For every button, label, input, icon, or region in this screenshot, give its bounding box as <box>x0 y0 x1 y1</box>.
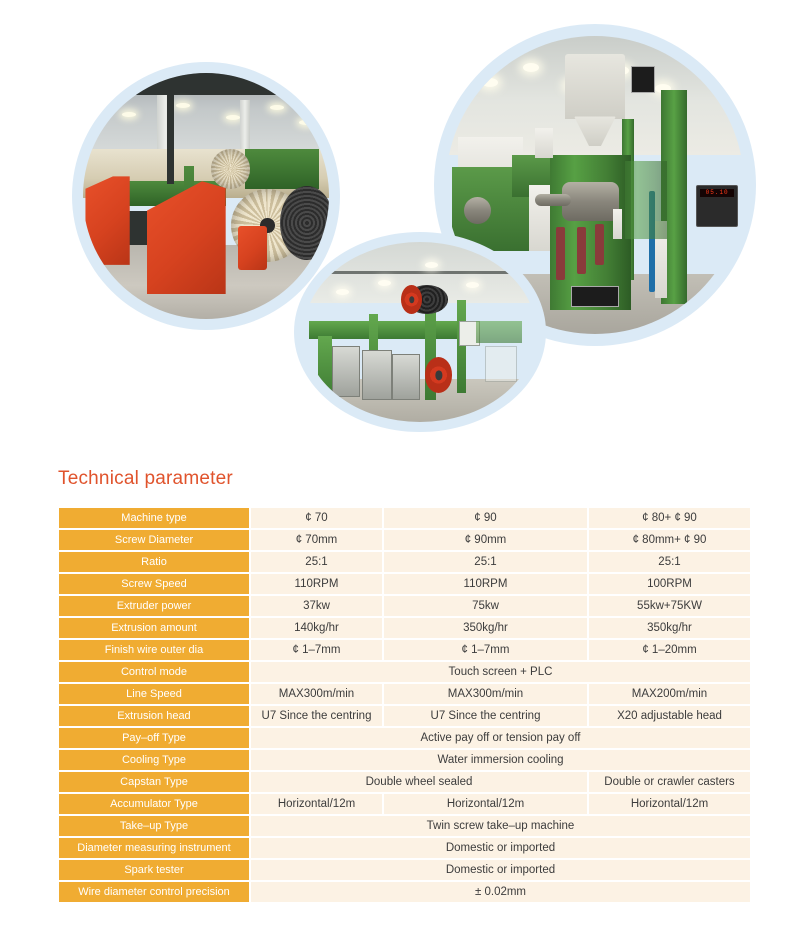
table-row: Finish wire outer dia¢ 1–7mm¢ 1–7mm¢ 1–2… <box>59 640 750 660</box>
row-value: ¢ 70 <box>251 508 382 528</box>
row-value: 350kg/hr <box>384 618 587 638</box>
table-row: Screw Diameter¢ 70mm¢ 90mm¢ 80mm+ ¢ 90 <box>59 530 750 550</box>
row-value: Horizontal/12m <box>589 794 750 814</box>
table-body: Machine type¢ 70¢ 90¢ 80+ ¢ 90Screw Diam… <box>59 508 750 902</box>
scene-factory-floor <box>83 73 329 319</box>
table-row: Spark testerDomestic or imported <box>59 860 750 880</box>
row-value: Horizontal/12m <box>384 794 587 814</box>
row-label: Extruder power <box>59 596 249 616</box>
row-value: ¢ 80mm+ ¢ 90 <box>589 530 750 550</box>
row-label: Control mode <box>59 662 249 682</box>
row-label: Take–up Type <box>59 816 249 836</box>
row-value: U7 Since the centring <box>384 706 587 726</box>
row-value: MAX300m/min <box>384 684 587 704</box>
table-row: Pay–off TypeActive pay off or tension pa… <box>59 728 750 748</box>
row-value: MAX200m/min <box>589 684 750 704</box>
table-row: Extrusion headU7 Since the centringU7 Si… <box>59 706 750 726</box>
table-row: Control modeTouch screen + PLC <box>59 662 750 682</box>
row-value: 25:1 <box>589 552 750 572</box>
row-value: Double or crawler casters <box>589 772 750 792</box>
table-row: Line SpeedMAX300m/minMAX300m/minMAX200m/… <box>59 684 750 704</box>
photo-collage: 05.10 <box>0 0 800 455</box>
row-value: ¢ 70mm <box>251 530 382 550</box>
row-label: Extrusion head <box>59 706 249 726</box>
row-value: U7 Since the centring <box>251 706 382 726</box>
row-value: 100RPM <box>589 574 750 594</box>
technical-parameter-table: Machine type¢ 70¢ 90¢ 80+ ¢ 90Screw Diam… <box>57 506 752 904</box>
row-value: ¢ 90 <box>384 508 587 528</box>
row-label: Machine type <box>59 508 249 528</box>
table-row: Machine type¢ 70¢ 90¢ 80+ ¢ 90 <box>59 508 750 528</box>
row-value: ¢ 1–7mm <box>251 640 382 660</box>
row-value: 350kg/hr <box>589 618 750 638</box>
row-value: ¢ 1–7mm <box>384 640 587 660</box>
row-label: Finish wire outer dia <box>59 640 249 660</box>
table-row: Cooling TypeWater immersion cooling <box>59 750 750 770</box>
row-value: 110RPM <box>251 574 382 594</box>
table-row: Extruder power37kw75kw55kw+75KW <box>59 596 750 616</box>
row-value: ± 0.02mm <box>251 882 750 902</box>
row-label: Screw Speed <box>59 574 249 594</box>
row-value: X20 adjustable head <box>589 706 750 726</box>
page-title: Technical parameter <box>58 468 233 490</box>
row-label: Line Speed <box>59 684 249 704</box>
row-value: 37kw <box>251 596 382 616</box>
row-label: Capstan Type <box>59 772 249 792</box>
row-value: MAX300m/min <box>251 684 382 704</box>
row-value: ¢ 90mm <box>384 530 587 550</box>
table-row: Extrusion amount140kg/hr350kg/hr350kg/hr <box>59 618 750 638</box>
display-readout: 05.10 <box>700 189 734 197</box>
table-row: Take–up TypeTwin screw take–up machine <box>59 816 750 836</box>
row-label: Diameter measuring instrument <box>59 838 249 858</box>
row-value: ¢ 80+ ¢ 90 <box>589 508 750 528</box>
row-value: Active pay off or tension pay off <box>251 728 750 748</box>
table-row: Wire diameter control precision± 0.02mm <box>59 882 750 902</box>
row-label: Cooling Type <box>59 750 249 770</box>
row-value: ¢ 1–20mm <box>589 640 750 660</box>
row-label: Extrusion amount <box>59 618 249 638</box>
table-row: Ratio25:125:125:1 <box>59 552 750 572</box>
row-label: Ratio <box>59 552 249 572</box>
photo-factory-floor-red-machines <box>72 62 340 330</box>
table-row: Screw Speed110RPM110RPM100RPM <box>59 574 750 594</box>
row-value: 140kg/hr <box>251 618 382 638</box>
row-value: 25:1 <box>251 552 382 572</box>
row-value: 75kw <box>384 596 587 616</box>
row-value: Domestic or imported <box>251 860 750 880</box>
photo-production-line-overview <box>294 232 546 432</box>
table-row: Diameter measuring instrumentDomestic or… <box>59 838 750 858</box>
row-value: Domestic or imported <box>251 838 750 858</box>
row-label: Accumulator Type <box>59 794 249 814</box>
row-value: 55kw+75KW <box>589 596 750 616</box>
row-label: Screw Diameter <box>59 530 249 550</box>
row-value: 110RPM <box>384 574 587 594</box>
row-label: Wire diameter control precision <box>59 882 249 902</box>
row-label: Pay–off Type <box>59 728 249 748</box>
row-value: Touch screen + PLC <box>251 662 750 682</box>
row-value: Twin screw take–up machine <box>251 816 750 836</box>
row-value: Double wheel sealed <box>251 772 587 792</box>
table-row: Accumulator TypeHorizontal/12mHorizontal… <box>59 794 750 814</box>
table-row: Capstan TypeDouble wheel sealedDouble or… <box>59 772 750 792</box>
row-label: Spark tester <box>59 860 249 880</box>
scene-production-line <box>304 242 536 422</box>
row-value: Water immersion cooling <box>251 750 750 770</box>
row-value: Horizontal/12m <box>251 794 382 814</box>
row-value: 25:1 <box>384 552 587 572</box>
extruder-display-panel: 05.10 <box>696 185 738 227</box>
